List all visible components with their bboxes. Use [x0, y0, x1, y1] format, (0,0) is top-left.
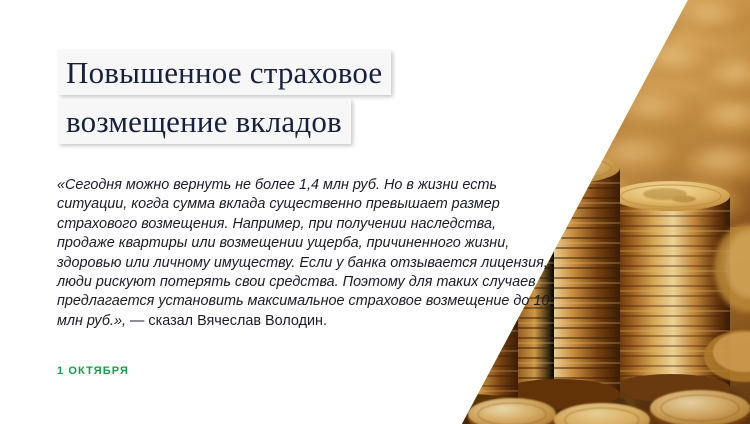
slide-canvas: Повышенное страховое возмещение вкладов … [0, 0, 750, 424]
quote-attribution: — сказал Вячеслав Володин. [126, 313, 327, 329]
quote-block: «Сегодня можно вернуть не более 1,4 млн … [57, 176, 557, 331]
publish-date: 1 октября [57, 365, 129, 377]
quote-text: «Сегодня можно вернуть не более 1,4 млн … [57, 177, 549, 329]
page-title: Повышенное страховое возмещение вкладов [58, 50, 391, 144]
title-line-1: Повышенное страховое [58, 50, 391, 95]
title-line-2: возмещение вкладов [58, 99, 351, 144]
